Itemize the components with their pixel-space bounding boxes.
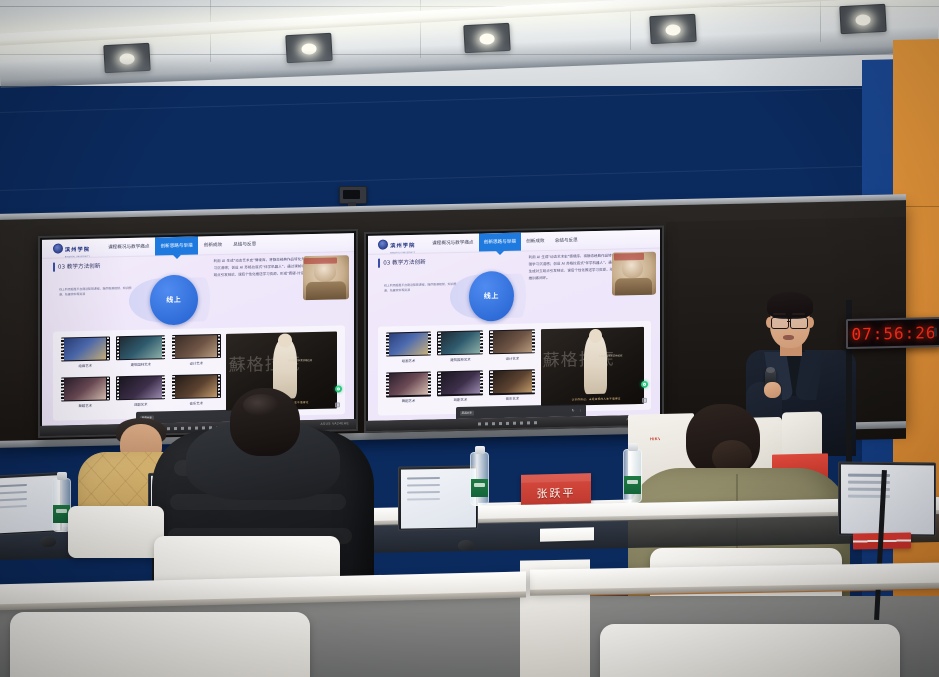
thumbnails-panel: 绘画艺术 建筑园林艺术 设计艺术 舞蹈艺术 [378,321,651,416]
placard-highlight [521,473,591,483]
chair-foreground[interactable] [600,624,900,677]
thumb-caption: 音乐艺术 [506,396,520,401]
presenter-eyebrow [792,313,805,315]
tab-summary-reflection[interactable]: 总结与反思 [550,231,583,249]
water-bottle [470,452,489,506]
section-bar [378,258,380,267]
sage-illustration [612,251,656,295]
sage-band [614,253,645,260]
more-icon[interactable]: ⋮ [579,408,582,412]
socrates-caption: 认识你自己，未经审视的人生不值得过 [572,396,621,401]
clock-time: 07:56:26 [851,323,936,344]
slide-body-left: 03 教学方法创新 线上利用超星平台建设智慧课程，提供微课视频、知识图谱、拓展资… [42,251,354,426]
thumb-caption: 建筑园林艺术 [450,357,470,362]
section-heading: 03 教学方法创新 [53,261,100,271]
thumb-item[interactable]: 音乐艺术 [489,369,535,407]
sage-band [304,257,337,264]
thumb-caption: 绘画艺术 [78,363,92,368]
thumb-item[interactable]: 建筑园林艺术 [116,335,165,373]
film-strip-icon [172,374,221,399]
thumb-item[interactable]: 舞蹈艺术 [61,376,110,414]
presenter-mouth [783,335,794,340]
chair[interactable] [68,506,164,558]
film-strip-icon [172,334,221,359]
glasses-lens-icon [790,317,808,329]
grey-square-badge-icon[interactable] [335,403,340,408]
presenter-hand [764,382,781,398]
thumbnail-grid: 绘画艺术 建筑园林艺术 设计艺术 舞蹈艺术 [386,329,536,409]
logo-emblem-icon [53,243,63,253]
bottle-cap [628,443,638,451]
section-heading: 03 教学方法创新 [378,257,425,267]
thumb-caption: 舞蹈艺术 [402,398,416,403]
thumb-caption: 绘画艺术 [402,358,416,363]
film-strip-icon [437,371,483,396]
thumb-item[interactable]: 设计艺术 [172,334,221,372]
film-strip-icon [61,336,110,361]
display-right[interactable]: 滨州学院 BINZHOU UNIVERSITY 课程概况与教学痛点 创新思路与举… [364,225,664,433]
film-strip-icon [489,329,535,354]
thumb-caption: 戏剧艺术 [134,401,148,406]
left-note-text: 线上利用超星平台建设智慧课程，提供微课视频、知识图谱、拓展资料等资源 [59,286,137,298]
left-note-text: 线上利用超星平台建设智慧课程，提供微课视频、知识图谱、拓展资料等资源 [384,282,457,294]
lecture-hall-photo: 滨州学院 BINZHOU UNIVERSITY 课程概况与教学痛点 创新思路与举… [0,0,939,677]
clock-vent [934,328,937,337]
socrates-overlay-tag: 古希腊哲学家苏格拉底 [288,358,312,363]
chair-foreground[interactable] [10,612,310,677]
thumb-item[interactable]: 建筑园林艺术 [437,330,483,368]
laptop-screen [398,465,478,530]
tab-innovation-results[interactable]: 创新成效 [198,236,227,254]
bottle-cap [475,446,485,454]
thumb-item[interactable]: 设计艺术 [489,329,535,367]
film-strip-icon [489,369,535,394]
led-digital-clock: 07:56:26 [846,317,939,349]
tab-summary-reflection[interactable]: 总结与反思 [228,235,262,253]
logo-emblem-icon [378,239,388,249]
thumb-caption: 舞蹈艺术 [78,402,92,407]
thumb-item[interactable]: 舞蹈艺术 [386,372,432,410]
slide-left: 滨州学院 BINZHOU UNIVERSITY 课程概况与教学痛点 创新思路与举… [42,233,354,426]
socrates-panel: 蘇格拉底 古希腊哲学家苏格拉底 认识你自己，未经审视的人生不值得过 [541,327,644,406]
hair-highlight [243,394,279,416]
socrates-overlay-tag: 古希腊哲学家苏格拉底 [598,354,622,359]
university-logo: 滨州学院 BINZHOU UNIVERSITY [53,238,90,259]
water-bottle [623,449,642,503]
university-logo: 滨州学院 BINZHOU UNIVERSITY [378,234,415,255]
presenter-eyebrow [773,313,786,315]
tab-innovation-results[interactable]: 创新成效 [521,232,550,250]
grey-square-badge-icon[interactable] [642,398,647,403]
bottle-label [624,476,641,494]
film-strip-icon [386,332,432,357]
laptop-screen [838,461,936,536]
sage-illustration [303,255,350,300]
thumb-caption: 音乐艺术 [190,400,204,405]
tab-innovation-approach[interactable]: 创新思路与举措 [479,233,521,251]
glasses-lens-icon [771,317,789,329]
film-strip-icon [116,335,165,360]
film-strip-icon [116,375,165,400]
section-title: 03 教学方法创新 [383,258,425,267]
thumb-caption: 设计艺术 [506,355,520,360]
logo-text: 滨州学院 [65,247,90,254]
bottle-label [471,479,488,497]
thumb-caption: 建筑园林艺术 [131,361,151,366]
tab-innovation-approach[interactable]: 创新思路与举措 [155,237,198,256]
thumb-item[interactable]: 戏剧艺术 [116,375,165,413]
computer-mouse[interactable] [40,536,56,547]
paper-sheet [540,527,594,541]
section-bar [53,262,55,271]
presenter-ear [807,317,814,328]
film-strip-icon [386,372,432,397]
logo-text: 滨州学院 [390,243,415,250]
computer-mouse[interactable] [458,540,474,551]
tab-course-overview[interactable]: 课程概况与教学痛点 [427,233,479,252]
refresh-icon[interactable]: ↻ [572,409,575,413]
toolbar-chip: 屏幕共享 [460,410,474,416]
microphone-head [766,367,775,373]
thumbnail-grid: 绘画艺术 建筑园林艺术 设计艺术 舞蹈艺术 [61,334,221,414]
thumb-caption: 设计艺术 [190,360,204,365]
film-strip-icon [437,330,483,355]
slide-right: 滨州学院 BINZHOU UNIVERSITY 课程概况与教学痛点 创新思路与举… [368,230,660,421]
film-strip-icon [61,376,110,401]
thumb-item[interactable]: 绘画艺术 [386,332,432,370]
bezel-model-label: ASUS VA24EHE [321,421,349,426]
thumb-item[interactable]: 音乐艺术 [172,374,221,412]
thumb-caption: 戏剧艺术 [454,397,468,402]
bottle-cap [57,472,67,480]
thumbnails-panel: 绘画艺术 建筑园林艺术 设计艺术 舞蹈艺术 [53,325,345,421]
bezel-buttons[interactable] [478,421,540,425]
display-left[interactable]: 滨州学院 BINZHOU UNIVERSITY 课程概况与教学痛点 创新思路与举… [38,229,358,438]
thumb-item[interactable]: 戏剧艺术 [437,371,483,409]
slide-body-right: 03 教学方法创新 线上利用超星平台建设智慧课程，提供微课视频、知识图谱、拓展资… [368,247,660,421]
tab-course-overview[interactable]: 课程概况与教学痛点 [103,237,155,256]
green-status-badge-icon[interactable] [335,385,342,392]
glasses-bridge [787,321,791,322]
thumb-item[interactable]: 绘画艺术 [61,336,110,374]
placard-name-text: 张跃平 [537,485,576,502]
socrates-figure [584,334,607,395]
section-title: 03 教学方法创新 [58,262,100,271]
